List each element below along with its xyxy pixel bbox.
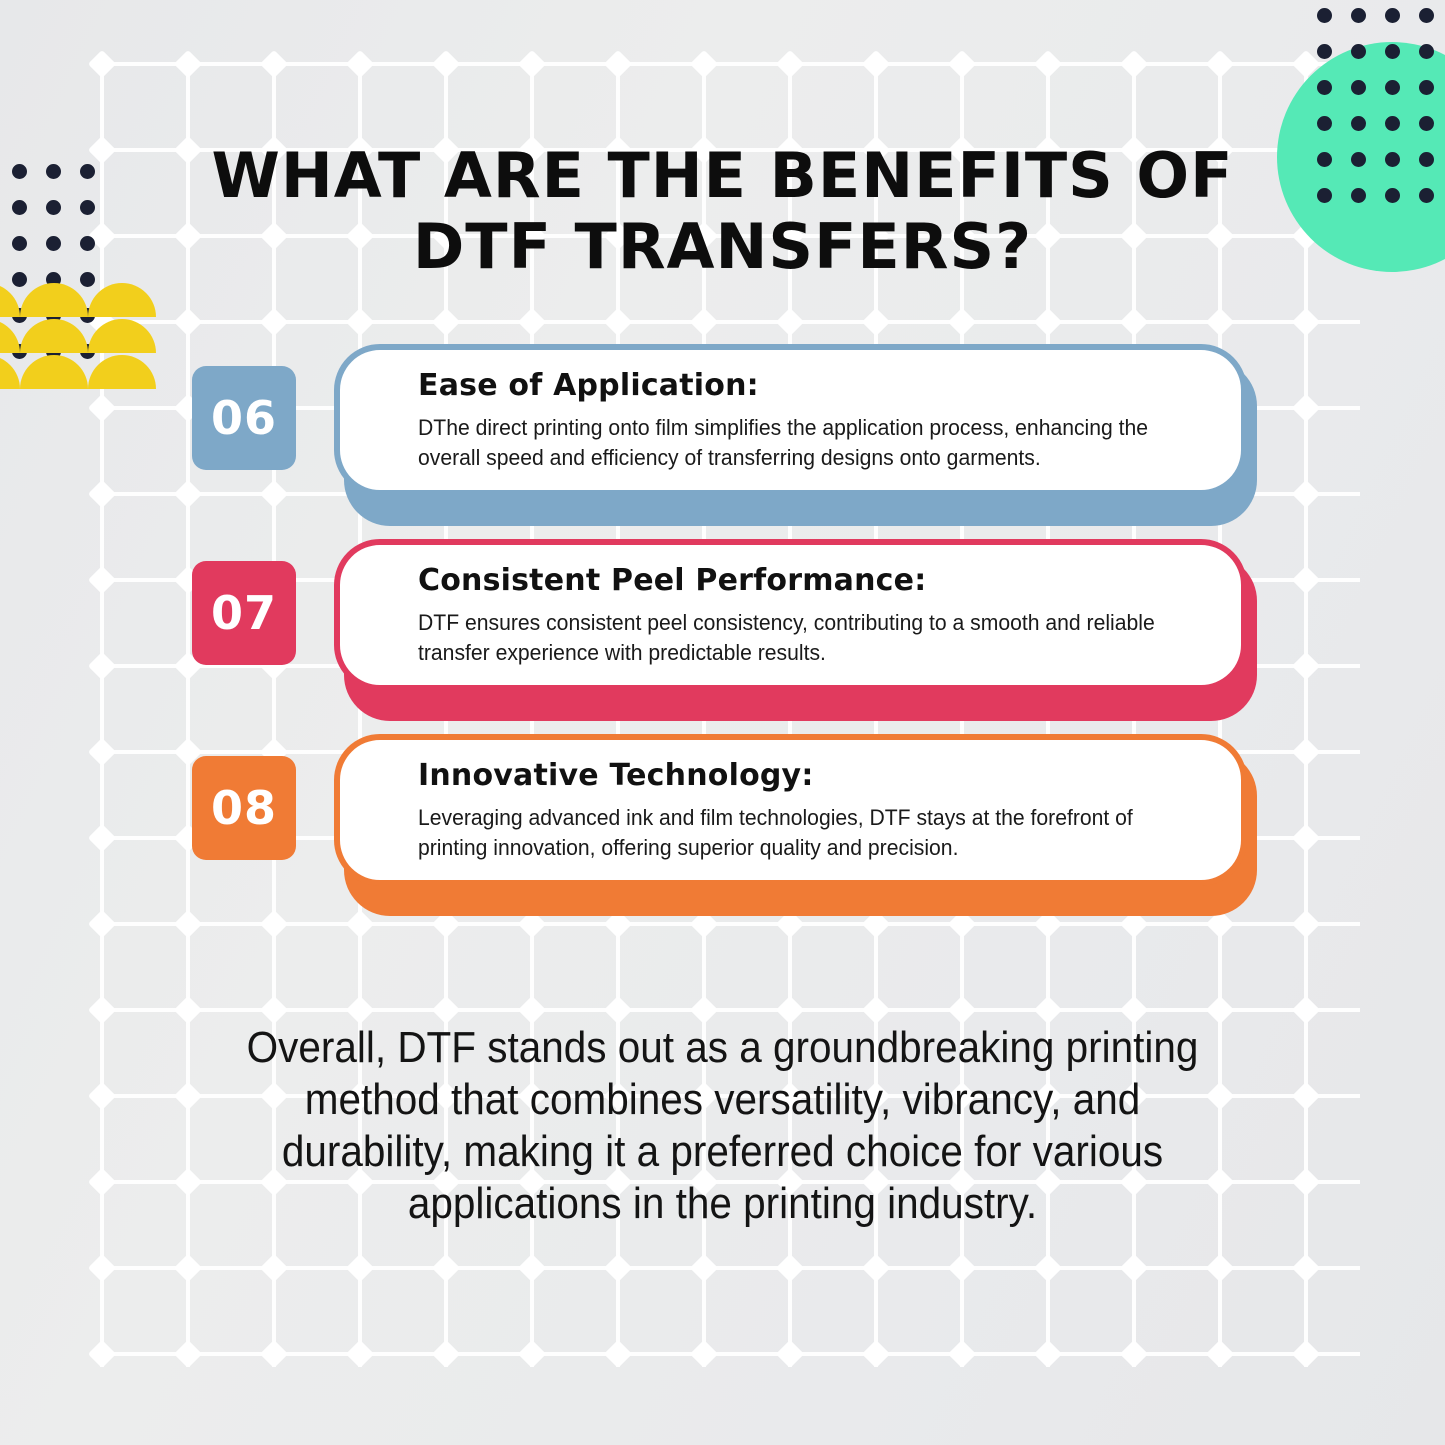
grid-node-diamond-icon [260, 1254, 288, 1282]
grid-node-diamond-icon [690, 996, 718, 1024]
card-description: DThe direct printing onto film simplifie… [418, 413, 1204, 474]
grid-node-diamond-icon [1206, 308, 1234, 336]
dot-icon [12, 200, 27, 215]
grid-node-diamond-icon [88, 222, 116, 250]
grid-node-diamond-icon [432, 1254, 460, 1282]
benefit-card: 06Ease of Application:DThe direct printi… [0, 338, 1445, 533]
grid-node-diamond-icon [432, 308, 460, 336]
grid-node-diamond-icon [948, 50, 976, 78]
grid-node-diamond-icon [518, 308, 546, 336]
grid-node-diamond-icon [518, 1254, 546, 1282]
grid-node-diamond-icon [260, 1340, 288, 1368]
card-description: DTF ensures consistent peel consistency,… [418, 608, 1204, 669]
card-panel: Innovative Technology:Leveraging advance… [334, 734, 1247, 886]
card-number-badge: 07 [192, 561, 296, 665]
grid-node-diamond-icon [948, 1254, 976, 1282]
grid-node-diamond-icon [862, 1340, 890, 1368]
dot-icon [12, 236, 27, 251]
grid-node-diamond-icon [948, 996, 976, 1024]
grid-node-diamond-icon [346, 996, 374, 1024]
dot-icon [12, 164, 27, 179]
card-number-badge: 08 [192, 756, 296, 860]
teal-circle-icon [1277, 42, 1445, 272]
grid-node-diamond-icon [260, 996, 288, 1024]
grid-node-diamond-icon [862, 996, 890, 1024]
grid-node-diamond-icon [346, 1254, 374, 1282]
grid-node-diamond-icon [1292, 996, 1320, 1024]
grid-node-diamond-icon [1034, 1340, 1062, 1368]
semicircle-icon [88, 283, 156, 317]
grid-node-diamond-icon [604, 1340, 632, 1368]
dot-icon [80, 200, 95, 215]
grid-node-diamond-icon [776, 1340, 804, 1368]
grid-node-diamond-icon [604, 996, 632, 1024]
benefit-card: 08Innovative Technology:Leveraging advan… [0, 728, 1445, 923]
grid-node-diamond-icon [88, 1082, 116, 1110]
grid-node-diamond-icon [1292, 1082, 1320, 1110]
dot-icon [46, 164, 61, 179]
grid-node-diamond-icon [862, 50, 890, 78]
grid-node-diamond-icon [346, 50, 374, 78]
dot-icon [1419, 8, 1434, 23]
card-title: Consistent Peel Performance: [418, 563, 1207, 598]
dot-icon [80, 236, 95, 251]
grid-node-diamond-icon [174, 1254, 202, 1282]
grid-node-diamond-icon [1120, 996, 1148, 1024]
grid-node-diamond-icon [776, 996, 804, 1024]
grid-node-diamond-icon [1120, 50, 1148, 78]
grid-node-diamond-icon [1206, 50, 1234, 78]
dot-icon [1351, 8, 1366, 23]
grid-node-diamond-icon [1292, 1340, 1320, 1368]
grid-node-diamond-icon [1034, 996, 1062, 1024]
infographic-canvas: WHAT ARE THE BENEFITS OF DTF TRANSFERS? … [0, 0, 1445, 1445]
grid-node-diamond-icon [862, 308, 890, 336]
card-number-badge: 06 [192, 366, 296, 470]
grid-node-diamond-icon [88, 996, 116, 1024]
grid-node-diamond-icon [690, 50, 718, 78]
grid-node-diamond-icon [1120, 1254, 1148, 1282]
grid-node-diamond-icon [690, 1254, 718, 1282]
grid-node-diamond-icon [260, 50, 288, 78]
grid-node-diamond-icon [88, 1340, 116, 1368]
card-description: Leveraging advanced ink and film technol… [418, 803, 1204, 864]
grid-node-diamond-icon [776, 308, 804, 336]
grid-node-diamond-icon [518, 1340, 546, 1368]
grid-node-diamond-icon [862, 1254, 890, 1282]
grid-node-diamond-icon [690, 308, 718, 336]
grid-node-diamond-icon [432, 996, 460, 1024]
grid-node-diamond-icon [604, 308, 632, 336]
grid-node-diamond-icon [88, 1168, 116, 1196]
grid-node-diamond-icon [1120, 1340, 1148, 1368]
grid-node-diamond-icon [88, 50, 116, 78]
grid-node-diamond-icon [1206, 1254, 1234, 1282]
grid-node-diamond-icon [690, 1340, 718, 1368]
grid-node-diamond-icon [1034, 308, 1062, 336]
dot-icon [46, 200, 61, 215]
grid-node-diamond-icon [604, 1254, 632, 1282]
grid-node-diamond-icon [1120, 308, 1148, 336]
grid-node-diamond-icon [1206, 996, 1234, 1024]
grid-node-diamond-icon [604, 50, 632, 78]
benefit-card: 07Consistent Peel Performance:DTF ensure… [0, 533, 1445, 728]
grid-node-diamond-icon [346, 308, 374, 336]
grid-node-diamond-icon [776, 1254, 804, 1282]
grid-node-diamond-icon [518, 50, 546, 78]
grid-node-diamond-icon [432, 50, 460, 78]
grid-node-diamond-icon [174, 308, 202, 336]
dot-icon [1385, 8, 1400, 23]
semicircle-icon [20, 283, 88, 317]
grid-node-diamond-icon [88, 136, 116, 164]
dot-icon [46, 236, 61, 251]
card-panel: Consistent Peel Performance:DTF ensures … [334, 539, 1247, 691]
page-title: WHAT ARE THE BENEFITS OF DTF TRANSFERS? [150, 140, 1295, 283]
grid-node-diamond-icon [346, 1340, 374, 1368]
grid-node-diamond-icon [174, 1082, 202, 1110]
grid-node-diamond-icon [88, 1254, 116, 1282]
summary-paragraph: Overall, DTF stands out as a groundbreak… [228, 1022, 1217, 1230]
card-title: Ease of Application: [418, 368, 1207, 403]
grid-node-diamond-icon [260, 308, 288, 336]
card-panel: Ease of Application:DThe direct printing… [334, 344, 1247, 496]
card-title: Innovative Technology: [418, 758, 1207, 793]
grid-node-diamond-icon [174, 1340, 202, 1368]
grid-node-diamond-icon [948, 308, 976, 336]
grid-node-diamond-icon [518, 996, 546, 1024]
grid-node-diamond-icon [174, 50, 202, 78]
grid-node-diamond-icon [1292, 1254, 1320, 1282]
grid-node-diamond-icon [432, 1340, 460, 1368]
grid-node-diamond-icon [1292, 1168, 1320, 1196]
grid-node-diamond-icon [1034, 1254, 1062, 1282]
dot-icon [1317, 8, 1332, 23]
semicircle-icon [0, 283, 20, 317]
benefit-card-list: 06Ease of Application:DThe direct printi… [0, 338, 1445, 923]
dot-icon [1317, 44, 1332, 59]
grid-node-diamond-icon [1292, 308, 1320, 336]
dot-icon [80, 164, 95, 179]
grid-node-diamond-icon [1034, 50, 1062, 78]
grid-node-diamond-icon [174, 1168, 202, 1196]
grid-node-diamond-icon [174, 996, 202, 1024]
grid-node-diamond-icon [948, 1340, 976, 1368]
grid-node-diamond-icon [776, 50, 804, 78]
grid-node-diamond-icon [1206, 1340, 1234, 1368]
